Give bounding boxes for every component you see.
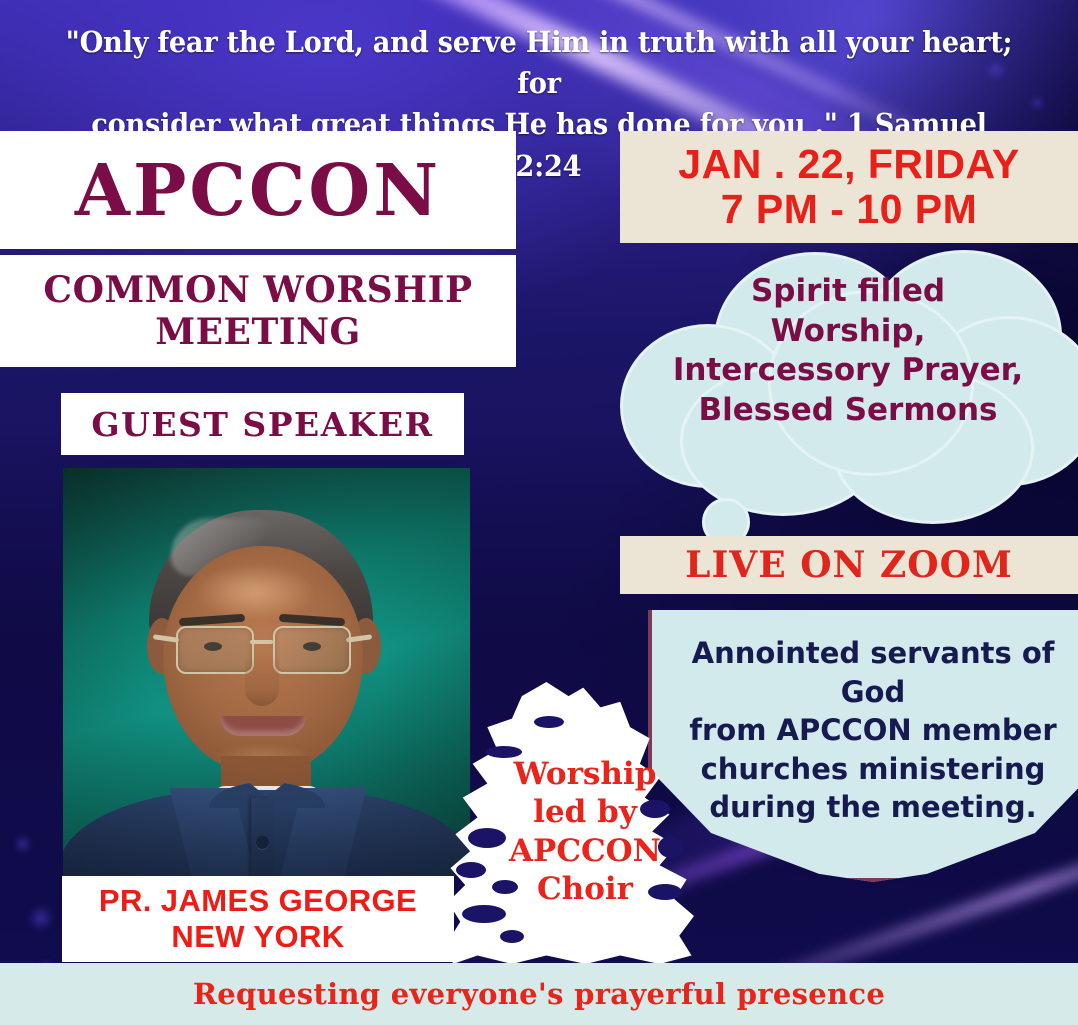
program-highlights-cloud: Spirit filled Worship, Intercessory Pray… — [618, 250, 1078, 540]
speaker-photo — [63, 468, 470, 876]
splash-hole — [534, 716, 564, 728]
scripture-line-1: "Only fear the Lord, and serve Him in tr… — [57, 22, 1021, 104]
meeting-title-line-2: MEETING — [43, 311, 472, 353]
splash-line-1: Worship — [500, 755, 670, 793]
event-datetime: JAN . 22, FRIDAY 7 PM - 10 PM — [620, 131, 1078, 243]
splash-line-2: led by — [500, 793, 670, 831]
shield-line-4: during the meeting. — [658, 788, 1078, 827]
speaker-name: PR. JAMES GEORGE — [99, 883, 417, 919]
shield-line-3: churches ministering — [658, 750, 1078, 789]
shield-line-2: from APCCON member — [658, 711, 1078, 750]
shield-line-1: Annointed servants of God — [658, 634, 1078, 711]
cloud-line-3: Intercessory Prayer, — [648, 351, 1048, 391]
meeting-title-line-1: COMMON WORSHIP — [43, 269, 472, 311]
splash-line-3: APCCON — [500, 832, 670, 870]
ministers-shield-text: Annointed servants of God from APCCON me… — [658, 634, 1078, 827]
footer-message: Requesting everyone's prayerful presence — [0, 963, 1078, 1025]
splash-hole — [456, 862, 486, 878]
background-bokeh — [28, 905, 54, 931]
live-on-zoom-banner: LIVE ON ZOOM — [620, 536, 1078, 594]
speaker-location: NEW YORK — [171, 919, 344, 955]
event-date: JAN . 22, FRIDAY — [678, 142, 1019, 187]
portrait-vignette — [63, 468, 470, 876]
speaker-name-panel: PR. JAMES GEORGE NEW YORK — [62, 876, 454, 962]
meeting-title: COMMON WORSHIP MEETING — [0, 255, 516, 367]
organization-title: APCCON — [0, 131, 516, 249]
cloud-line-4: Blessed Sermons — [648, 391, 1048, 431]
event-time: 7 PM - 10 PM — [721, 187, 978, 232]
cloud-line-2: Worship, — [648, 312, 1048, 352]
guest-speaker-label: GUEST SPEAKER — [61, 393, 464, 455]
cloud-line-1: Spirit filled — [648, 272, 1048, 312]
splash-hole — [500, 930, 524, 943]
background-bokeh — [14, 835, 32, 853]
event-flyer: "Only fear the Lord, and serve Him in tr… — [0, 0, 1078, 1025]
cloud-text: Spirit filled Worship, Intercessory Pray… — [648, 272, 1048, 431]
worship-led-by-text: Worship led by APCCON Choir — [500, 755, 670, 909]
splash-line-4: Choir — [500, 870, 670, 908]
